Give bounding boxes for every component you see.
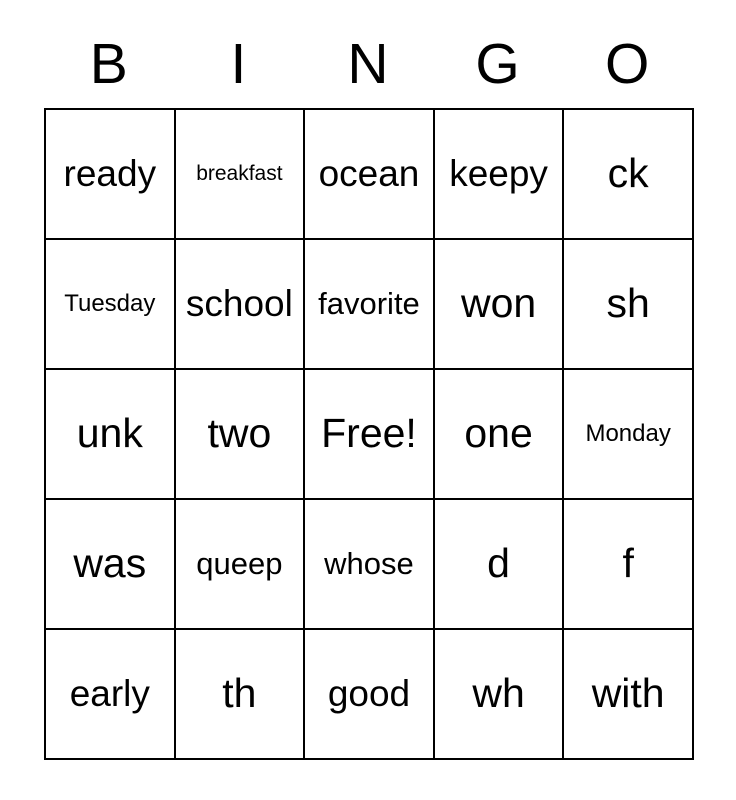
bingo-header-letter-g: G — [433, 20, 563, 108]
bingo-header-letter-o: O — [562, 20, 692, 108]
bingo-cell[interactable]: favorite — [305, 240, 435, 370]
bingo-cell-label: Free! — [321, 412, 417, 455]
bingo-header-letter-n: N — [303, 20, 433, 108]
bingo-cell-label: was — [73, 542, 146, 585]
bingo-cell[interactable]: won — [435, 240, 565, 370]
bingo-cell-label: good — [328, 675, 410, 714]
bingo-row: ready breakfast ocean keepy ck — [46, 110, 694, 240]
bingo-cell[interactable]: with — [564, 630, 694, 760]
bingo-cell-label: two — [207, 412, 271, 455]
bingo-cell-label: d — [487, 542, 510, 585]
bingo-cell-label: queep — [196, 548, 282, 581]
bingo-cell-label: wh — [472, 672, 524, 715]
bingo-row: Tuesday school favorite won sh — [46, 240, 694, 370]
bingo-cell[interactable]: unk — [46, 370, 176, 500]
bingo-row: early th good wh with — [46, 630, 694, 760]
bingo-cell[interactable]: ck — [564, 110, 694, 240]
bingo-cell[interactable]: queep — [176, 500, 306, 630]
bingo-grid: ready breakfast ocean keepy ck Tuesday s… — [44, 108, 694, 760]
bingo-cell[interactable]: early — [46, 630, 176, 760]
bingo-cell[interactable]: whose — [305, 500, 435, 630]
bingo-cell[interactable]: school — [176, 240, 306, 370]
bingo-cell[interactable]: one — [435, 370, 565, 500]
bingo-cell-label: ck — [608, 152, 649, 195]
bingo-header-row: B I N G O — [44, 20, 692, 108]
bingo-cell[interactable]: was — [46, 500, 176, 630]
bingo-cell[interactable]: two — [176, 370, 306, 500]
bingo-cell-label: ready — [64, 155, 157, 194]
bingo-header-letter-b: B — [44, 20, 174, 108]
bingo-cell-label: sh — [607, 282, 650, 325]
bingo-header-letter-i: I — [174, 20, 304, 108]
bingo-cell[interactable]: Monday — [564, 370, 694, 500]
bingo-cell-label: ocean — [319, 155, 420, 194]
bingo-cell-label: Monday — [585, 421, 670, 446]
bingo-cell-label: with — [592, 672, 665, 715]
bingo-cell-label: whose — [324, 548, 414, 581]
bingo-cell-label: early — [70, 675, 150, 714]
bingo-cell-label: unk — [77, 412, 143, 455]
bingo-cell[interactable]: th — [176, 630, 306, 760]
bingo-cell-label: breakfast — [196, 163, 282, 185]
bingo-cell-label: favorite — [318, 288, 420, 321]
bingo-cell[interactable]: f — [564, 500, 694, 630]
bingo-cell-label: f — [622, 542, 633, 585]
bingo-cell-free[interactable]: Free! — [305, 370, 435, 500]
bingo-cell-label: keepy — [449, 155, 548, 194]
bingo-cell-label: Tuesday — [64, 291, 155, 316]
bingo-cell[interactable]: ready — [46, 110, 176, 240]
bingo-cell-label: th — [222, 672, 256, 715]
bingo-cell[interactable]: good — [305, 630, 435, 760]
bingo-cell[interactable]: Tuesday — [46, 240, 176, 370]
bingo-cell[interactable]: d — [435, 500, 565, 630]
bingo-row: unk two Free! one Monday — [46, 370, 694, 500]
bingo-cell[interactable]: keepy — [435, 110, 565, 240]
bingo-cell-label: one — [464, 412, 532, 455]
bingo-cell[interactable]: wh — [435, 630, 565, 760]
bingo-card: B I N G O ready breakfast ocean keepy ck… — [44, 20, 692, 760]
bingo-cell[interactable]: ocean — [305, 110, 435, 240]
bingo-row: was queep whose d f — [46, 500, 694, 630]
bingo-cell[interactable]: sh — [564, 240, 694, 370]
bingo-cell-label: school — [186, 285, 293, 324]
bingo-cell-label: won — [461, 282, 536, 325]
bingo-cell[interactable]: breakfast — [176, 110, 306, 240]
